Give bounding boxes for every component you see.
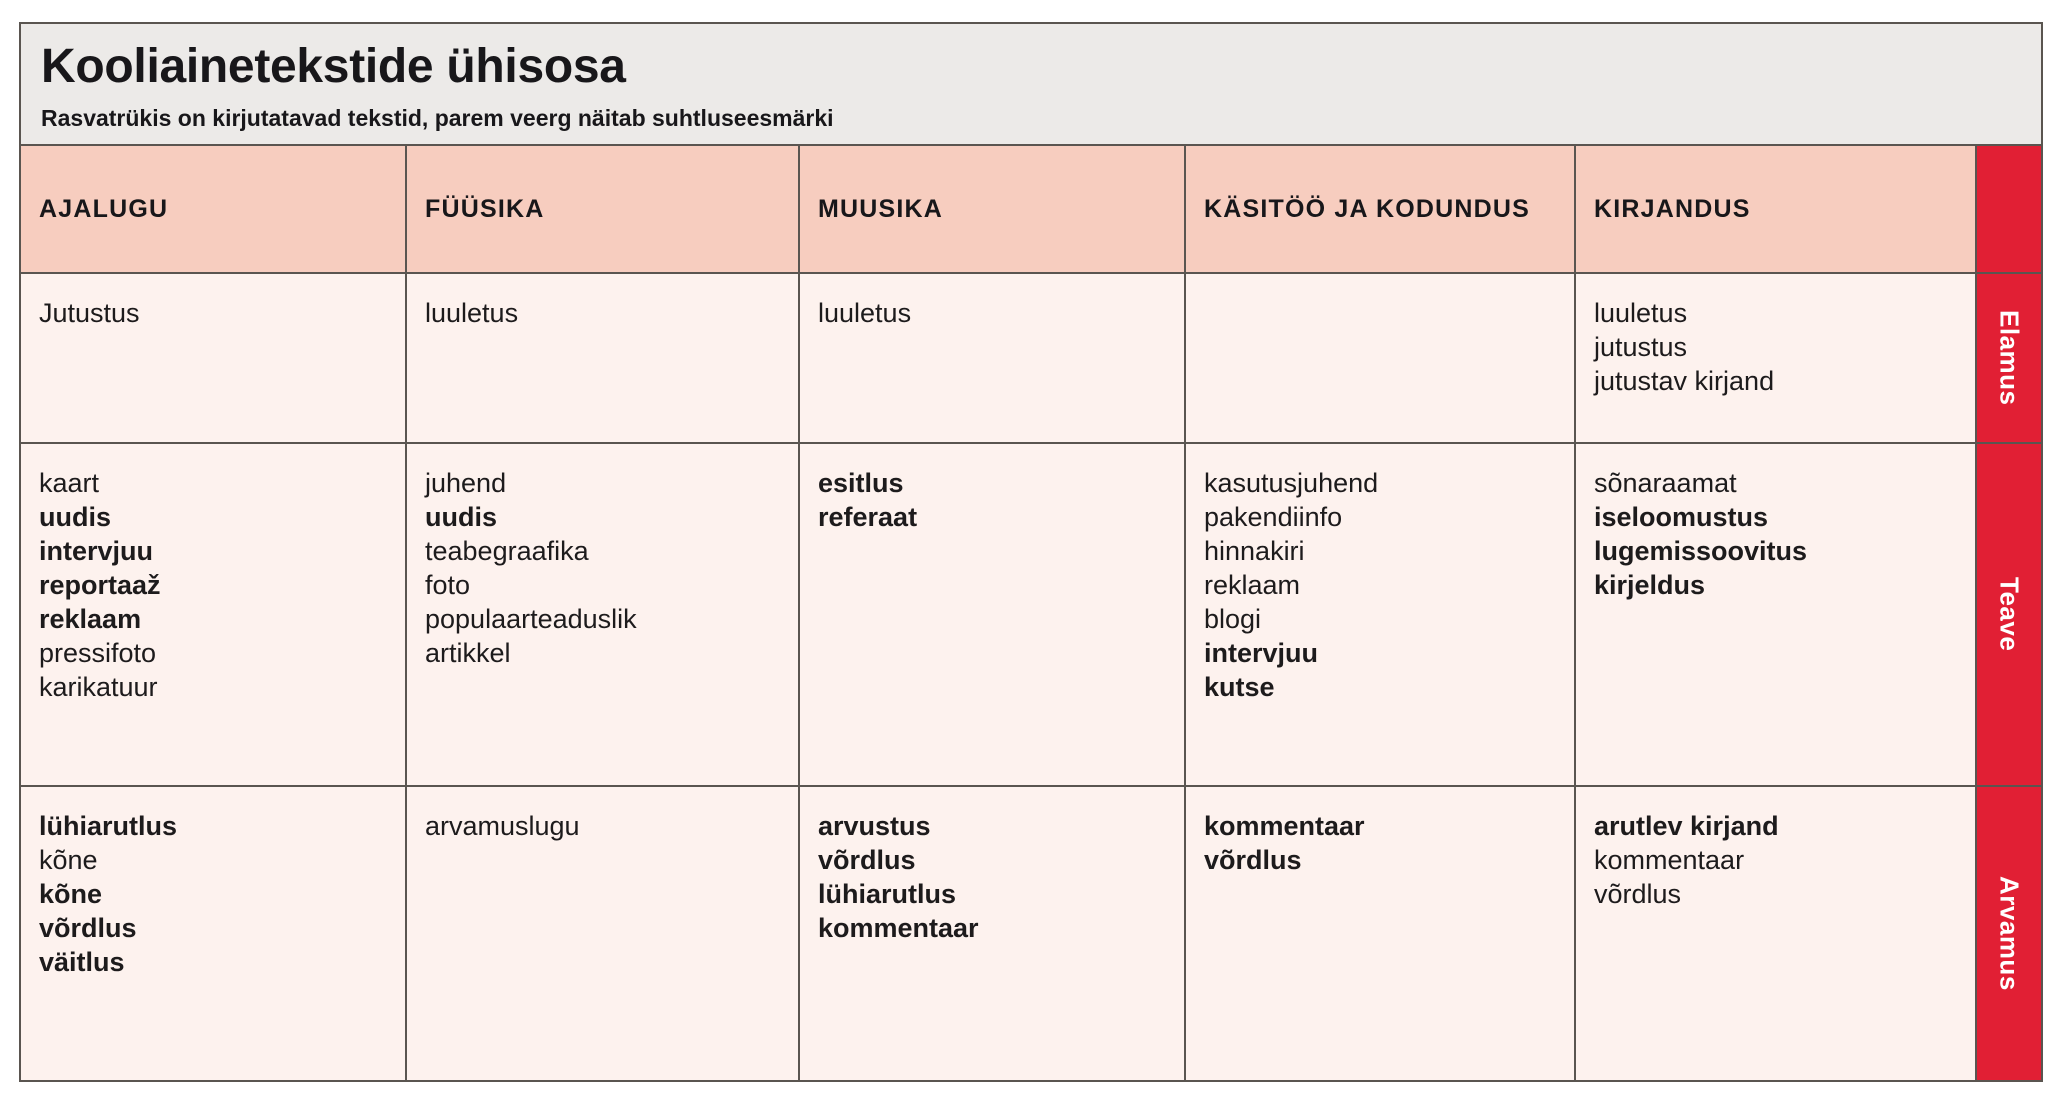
term-item: jutustav kirjand	[1594, 364, 1975, 398]
table-row: kaartuudisintervjuureportaažreklaampress…	[21, 444, 1975, 787]
term-item: väitlus	[39, 945, 405, 979]
page-subtitle: Rasvatrükis on kirjutatavad tekstid, par…	[41, 106, 2041, 131]
term-item: reportaaž	[39, 568, 405, 602]
term-item: blogi	[1204, 602, 1574, 636]
term-list: arutlev kirjandkommentaarvõrdlus	[1594, 809, 1975, 911]
subject-columns: AJALUGU FÜÜSIKA MUUSIKA KÄSITÖÖ JA KODUN…	[21, 146, 1975, 1080]
term-item: arvustus	[818, 809, 1184, 843]
purpose-column: Elamus Teave Arvamus	[1975, 146, 2041, 1080]
term-item: Jutustus	[39, 296, 405, 330]
term-list: juhenduudisteabegraafikafotopopulaartead…	[425, 466, 798, 670]
term-list: luuletus	[425, 296, 798, 330]
table-cell: lühiarutluskõnekõnevõrdlusväitlus	[21, 787, 407, 1080]
table-row: lühiarutluskõnekõnevõrdlusväitlus arvamu…	[21, 787, 1975, 1080]
column-header-label: AJALUGU	[39, 193, 168, 225]
term-item: lühiarutlus	[818, 877, 1184, 911]
table-cell: luuletus	[800, 274, 1186, 442]
column-header-label: KIRJANDUS	[1594, 193, 1751, 225]
term-item: võrdlus	[1204, 843, 1574, 877]
term-item: teabegraafika	[425, 534, 798, 568]
term-item: hinnakiri	[1204, 534, 1574, 568]
table-cell: arvustusvõrdluslühiarutluskommentaar	[800, 787, 1186, 1080]
page-root: Kooliainetekstide ühisosa Rasvatrükis on…	[0, 0, 2063, 1106]
term-item: juhend	[425, 466, 798, 500]
term-item: kommentaar	[818, 911, 1184, 945]
purpose-cell-teave: Teave	[1977, 444, 2041, 787]
term-item: uudis	[425, 500, 798, 534]
term-item: populaarteaduslik	[425, 602, 798, 636]
term-list: sõnaraamatiseloomustuslugemissoovituskir…	[1594, 466, 1975, 602]
table-cell: luuletusjutustusjutustav kirjand	[1576, 274, 1975, 442]
table-cell: kaartuudisintervjuureportaažreklaampress…	[21, 444, 407, 785]
term-item: foto	[425, 568, 798, 602]
term-item: artikkel	[425, 636, 798, 670]
term-item: kõne	[39, 843, 405, 877]
column-header-label: KÄSITÖÖ JA KODUNDUS	[1204, 193, 1530, 225]
term-list: kommentaarvõrdlus	[1204, 809, 1574, 877]
term-item: võrdlus	[818, 843, 1184, 877]
table-cell: arvamuslugu	[407, 787, 800, 1080]
term-list: esitlusreferaat	[818, 466, 1184, 534]
table-cell: kasutusjuhendpakendiinfohinnakirireklaam…	[1186, 444, 1576, 785]
column-header-ajalugu: AJALUGU	[21, 146, 407, 272]
term-item: reklaam	[1204, 568, 1574, 602]
table-cell: arutlev kirjandkommentaarvõrdlus	[1576, 787, 1975, 1080]
table-cell: luuletus	[407, 274, 800, 442]
term-item: intervjuu	[39, 534, 405, 568]
table-grid: AJALUGU FÜÜSIKA MUUSIKA KÄSITÖÖ JA KODUN…	[21, 146, 2041, 1080]
term-item: esitlus	[818, 466, 1184, 500]
term-item: võrdlus	[39, 911, 405, 945]
purpose-cell-arvamus: Arvamus	[1977, 787, 2041, 1080]
term-item: karikatuur	[39, 670, 405, 704]
term-list: arvamuslugu	[425, 809, 798, 843]
term-item: luuletus	[1594, 296, 1975, 330]
term-list: kaartuudisintervjuureportaažreklaampress…	[39, 466, 405, 704]
table-header-row: AJALUGU FÜÜSIKA MUUSIKA KÄSITÖÖ JA KODUN…	[21, 146, 1975, 274]
table-cell: esitlusreferaat	[800, 444, 1186, 785]
table-cell	[1186, 274, 1576, 442]
purpose-label: Teave	[1994, 577, 2025, 651]
page-title: Kooliainetekstide ühisosa	[41, 42, 2041, 92]
table-row: Jutustus luuletus luuletus luuletusjutus…	[21, 274, 1975, 444]
column-header-muusika: MUUSIKA	[800, 146, 1186, 272]
column-header-kasitoo-ja-kodundus: KÄSITÖÖ JA KODUNDUS	[1186, 146, 1576, 272]
column-header-label: FÜÜSIKA	[425, 193, 545, 225]
term-list: arvustusvõrdluslühiarutluskommentaar	[818, 809, 1184, 945]
purpose-label: Elamus	[1994, 310, 2025, 406]
term-list: Jutustus	[39, 296, 405, 330]
table-cell: Jutustus	[21, 274, 407, 442]
term-item: intervjuu	[1204, 636, 1574, 670]
term-item: kutse	[1204, 670, 1574, 704]
column-header-label: MUUSIKA	[818, 193, 943, 225]
term-item: arutlev kirjand	[1594, 809, 1975, 843]
term-item: sõnaraamat	[1594, 466, 1975, 500]
term-list: luuletusjutustusjutustav kirjand	[1594, 296, 1975, 398]
table-cell: kommentaarvõrdlus	[1186, 787, 1576, 1080]
column-header-fuusika: FÜÜSIKA	[407, 146, 800, 272]
term-list: lühiarutluskõnekõnevõrdlusväitlus	[39, 809, 405, 979]
term-item: võrdlus	[1594, 877, 1975, 911]
term-item: pakendiinfo	[1204, 500, 1574, 534]
term-list: luuletus	[818, 296, 1184, 330]
purpose-cell-elamus: Elamus	[1977, 274, 2041, 444]
term-item: jutustus	[1594, 330, 1975, 364]
table-cell: juhenduudisteabegraafikafotopopulaartead…	[407, 444, 800, 785]
term-item: luuletus	[818, 296, 1184, 330]
overview-table: Kooliainetekstide ühisosa Rasvatrükis on…	[19, 22, 2043, 1082]
term-item: pressifoto	[39, 636, 405, 670]
purpose-header-spacer	[1977, 146, 2041, 274]
column-header-kirjandus: KIRJANDUS	[1576, 146, 1975, 272]
term-item: arvamuslugu	[425, 809, 798, 843]
term-item: lühiarutlus	[39, 809, 405, 843]
term-item: reklaam	[39, 602, 405, 636]
term-item: kaart	[39, 466, 405, 500]
term-item: lugemissoovitus	[1594, 534, 1975, 568]
title-band: Kooliainetekstide ühisosa Rasvatrükis on…	[21, 24, 2041, 146]
term-item: referaat	[818, 500, 1184, 534]
term-item: iseloomustus	[1594, 500, 1975, 534]
term-item: kommentaar	[1204, 809, 1574, 843]
term-item: kõne	[39, 877, 405, 911]
term-item: kirjeldus	[1594, 568, 1975, 602]
term-item: kasutusjuhend	[1204, 466, 1574, 500]
term-item: kommentaar	[1594, 843, 1975, 877]
term-item: uudis	[39, 500, 405, 534]
term-item: luuletus	[425, 296, 798, 330]
term-list: kasutusjuhendpakendiinfohinnakirireklaam…	[1204, 466, 1574, 704]
table-cell: sõnaraamatiseloomustuslugemissoovituskir…	[1576, 444, 1975, 785]
purpose-label: Arvamus	[1994, 876, 2025, 991]
